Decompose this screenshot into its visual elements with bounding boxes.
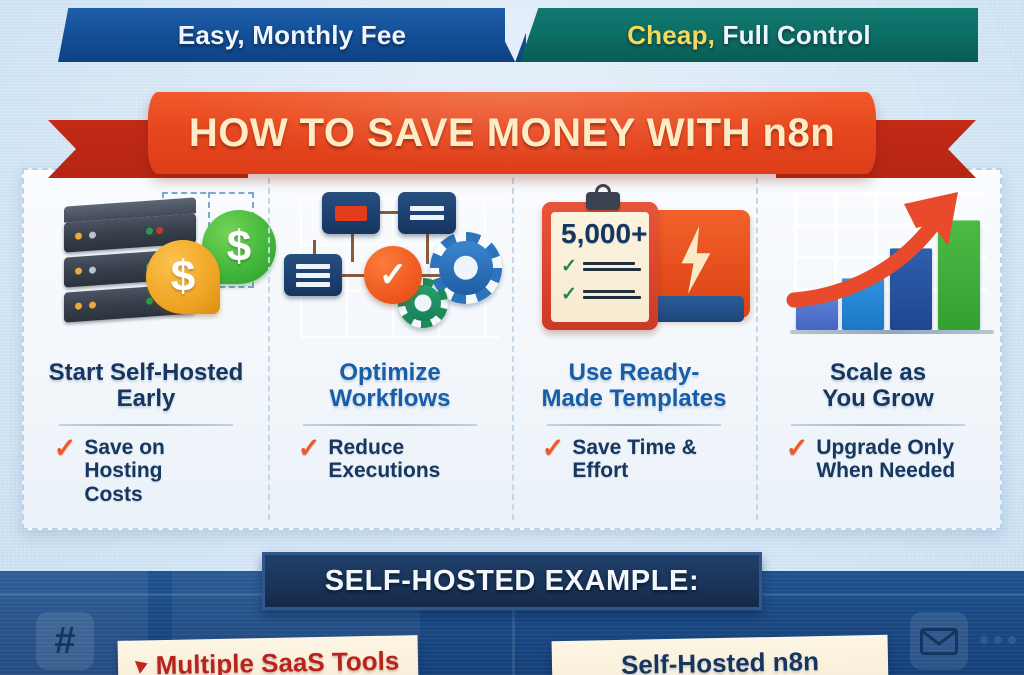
divider <box>303 424 478 426</box>
red-flag-icon <box>135 657 150 674</box>
card-bullet: ✓ Save Time & Effort <box>538 436 731 483</box>
section-badge-label: SELF-HOSTED EXAMPLE: <box>325 565 700 598</box>
workflow-node-red <box>322 192 380 234</box>
server-rack-money-icon: $ $ <box>34 184 258 356</box>
tab-easy-monthly-fee[interactable]: Easy, Monthly Fee <box>58 8 526 62</box>
tab-left-label: Easy, Monthly Fee <box>178 20 406 51</box>
check-icon: ✓ <box>561 257 577 276</box>
workflow-node-menu <box>284 254 342 296</box>
tab-right-highlight: Cheap, <box>627 20 715 50</box>
card-bullet-text: Reduce Executions <box>328 436 440 483</box>
note-multiple-saas-tools[interactable]: Multiple SaaS Tools <box>118 635 419 675</box>
envelope-icon <box>910 612 968 670</box>
growth-bar-chart-icon <box>766 184 990 356</box>
clipboard-templates-icon: 5,000+ ✓ ✓ <box>522 184 746 356</box>
divider <box>547 424 722 426</box>
tab-right-label: Cheap, Full Control <box>627 20 871 51</box>
card-title: Use Ready- Made Templates <box>542 360 727 412</box>
checklist-row: ✓ <box>561 257 649 276</box>
check-circle-icon: ✓ <box>364 246 422 304</box>
note-right-label: Self-Hosted n8n <box>621 646 819 675</box>
note-left-label: Multiple SaaS Tools <box>155 645 399 675</box>
check-icon: ✓ <box>542 436 565 461</box>
growth-arrow-icon <box>780 184 1010 334</box>
check-icon: ✓ <box>786 436 809 461</box>
card-bullet-text: Save Time & Effort <box>572 436 697 483</box>
check-icon: ✓ <box>561 285 577 304</box>
wire <box>351 232 354 262</box>
card-bullet-text: Upgrade Only When Needed <box>816 436 955 483</box>
text-lines <box>583 290 641 299</box>
infographic-canvas: Easy, Monthly Fee Cheap, Full Control HO… <box>0 0 1024 675</box>
clipboard-paper: 5,000+ ✓ ✓ <box>551 212 649 322</box>
card-bullet: ✓ Upgrade Only When Needed <box>782 436 975 483</box>
check-icon: ✓ <box>54 436 77 461</box>
card-title: Start Self-Hosted Early <box>49 360 244 412</box>
card-scale-as-you-grow[interactable]: Scale as You Grow ✓ Upgrade Only When Ne… <box>756 170 1000 528</box>
section-badge: SELF-HOSTED EXAMPLE: <box>262 552 762 610</box>
template-count: 5,000+ <box>561 220 649 248</box>
tab-right-rest: Full Control <box>715 20 871 50</box>
card-title: Scale as You Grow <box>822 360 934 412</box>
card-use-ready-made-templates[interactable]: 5,000+ ✓ ✓ Use Ready- Made Templates ✓ S… <box>512 170 756 528</box>
card-bullet-text: Save on Hosting Costs <box>84 436 242 507</box>
clipboard-clip <box>586 192 620 210</box>
checklist-row: ✓ <box>561 285 649 304</box>
card-bullet: ✓ Save on Hosting Costs <box>50 436 243 507</box>
connector-dots <box>980 636 1016 644</box>
workflow-node-list <box>398 192 456 234</box>
tab-cheap-full-control[interactable]: Cheap, Full Control <box>520 8 978 62</box>
comparison-tabs: Easy, Monthly Fee Cheap, Full Control <box>0 8 1024 70</box>
card-optimize-workflows[interactable]: ✓ Optimize Workflows ✓ Reduce Executions <box>268 170 512 528</box>
text-lines <box>583 262 641 271</box>
ribbon-body: HOW TO SAVE MONEY WITH n8n <box>148 92 876 174</box>
card-start-self-hosted-early[interactable]: $ $ Start Self-Hosted Early ✓ Save on Ho… <box>24 170 268 528</box>
orange-dollar-coin: $ <box>146 240 220 314</box>
check-icon: ✓ <box>298 436 321 461</box>
tips-panel: $ $ Start Self-Hosted Early ✓ Save on Ho… <box>22 168 1002 530</box>
page-title: HOW TO SAVE MONEY WITH n8n <box>189 111 835 156</box>
card-bullet: ✓ Reduce Executions <box>294 436 487 483</box>
divider <box>791 424 966 426</box>
title-ribbon: HOW TO SAVE MONEY WITH n8n <box>0 92 1024 188</box>
bolt-card-base <box>652 296 744 322</box>
hashtag-icon: # <box>36 612 94 670</box>
workflow-gears-icon: ✓ <box>278 184 502 356</box>
note-self-hosted-n8n[interactable]: Self-Hosted n8n <box>552 635 889 675</box>
divider <box>59 424 234 426</box>
wire <box>426 232 429 264</box>
card-title: Optimize Workflows <box>330 360 451 412</box>
